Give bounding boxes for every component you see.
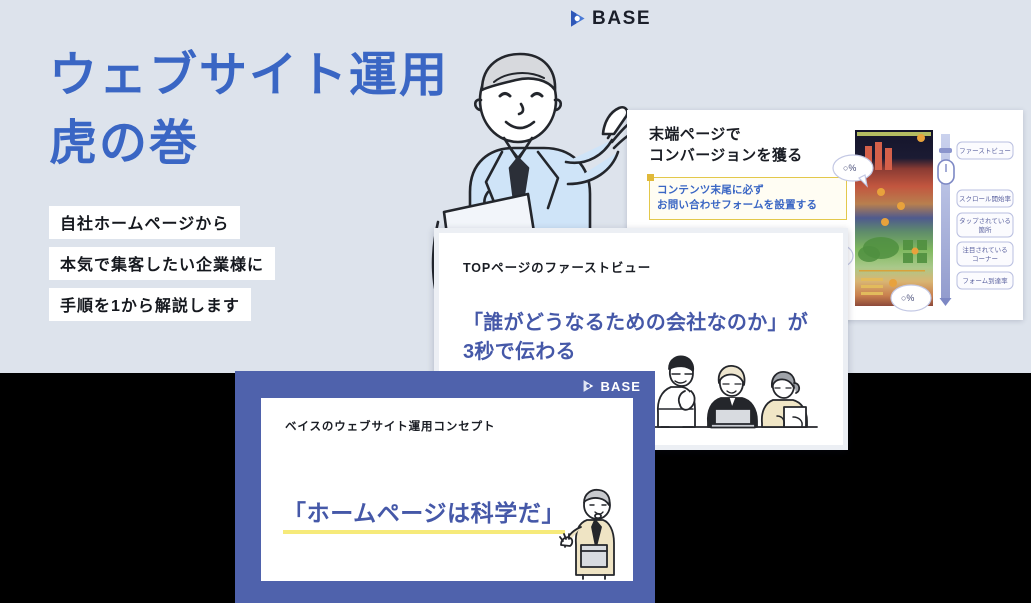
list-item: 手順を1から解説します — [49, 288, 275, 329]
hero-tag-list: 自社ホームページから 本気で集客したい企業様に 手順を1から解説します — [49, 206, 275, 329]
hero-tag: 自社ホームページから — [49, 206, 240, 239]
base-logo-header[interactable]: BASE — [570, 9, 651, 28]
svg-text:タップされている: タップされている — [959, 216, 1011, 225]
svg-text:○%: ○% — [901, 293, 914, 303]
base-play-mark-icon — [570, 9, 587, 28]
person-presenting-illustration — [559, 489, 625, 579]
hero-tag: 本気で集客したい企業様に — [49, 247, 275, 280]
svg-text:フォーム到達率: フォーム到達率 — [962, 276, 1008, 285]
base-wordmark: BASE — [600, 380, 641, 393]
svg-text:ファーストビュー: ファーストビュー — [959, 146, 1011, 155]
svg-text:注目されている: 注目されている — [962, 245, 1007, 254]
slide-concept-headline: 「ホームページは科学だ」 — [283, 494, 565, 534]
svg-text:箇所: 箇所 — [979, 225, 993, 234]
base-wordmark: BASE — [592, 9, 651, 28]
callout-pin-icon — [647, 174, 654, 181]
list-item: 本気で集客したい企業様に — [49, 247, 275, 288]
base-play-mark-icon — [583, 379, 595, 393]
slide-heatmap-callout: コンテンツ末尾に必ず お問い合わせフォームを設置する — [649, 177, 847, 220]
base-logo-slide: BASE — [583, 379, 641, 393]
page-root: BASE ウェブサイト運用 虎の巻 自社ホームページから 本気で集客したい企業様… — [0, 0, 1031, 603]
slide-heatmap-title: 末端ページで コンバージョンを獲る — [649, 124, 847, 167]
page-title: ウェブサイト運用 虎の巻 — [49, 42, 449, 178]
slide-heatmap-callout-text: コンテンツ末尾に必ず お問い合わせフォームを設置する — [657, 183, 839, 213]
slide-concept-body: ベイスのウェブサイト運用コンセプト 「ホームページは科学だ」 — [261, 398, 633, 581]
svg-text:コーナー: コーナー — [972, 255, 998, 263]
svg-text:○%: ○% — [843, 163, 856, 173]
slide-concept-eyebrow: ベイスのウェブサイト運用コンセプト — [285, 418, 495, 434]
slide-toppage-eyebrow: TOPページのファーストビュー — [463, 257, 651, 276]
heatmap-figure: ファーストビュー スクロール開始率 タップされている箇所 注目されているコーナー… — [849, 120, 1017, 312]
hero-tag: 手順を1から解説します — [49, 288, 251, 321]
svg-text:スクロール開始率: スクロール開始率 — [959, 194, 1012, 203]
list-item: 自社ホームページから — [49, 206, 275, 247]
three-people-illustration — [647, 353, 825, 435]
slide-concept[interactable]: BASE ベイスのウェブサイト運用コンセプト 「ホームページは科学だ」 — [235, 371, 655, 603]
